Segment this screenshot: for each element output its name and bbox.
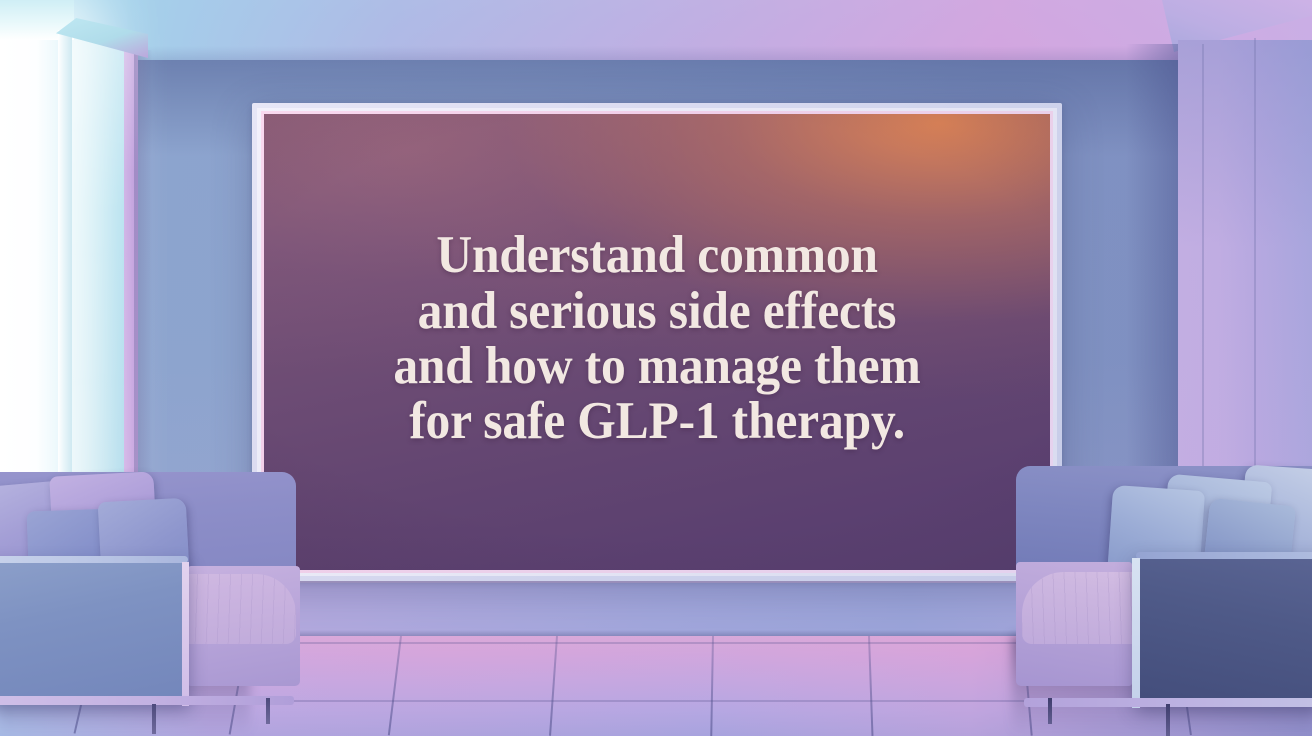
headline-line-2: and serious side effects: [418, 284, 897, 339]
right-sofa-leg: [1048, 698, 1052, 724]
left-sofa-base: [0, 696, 294, 705]
left-sofa-arm: [0, 558, 186, 704]
left-sofa-leg: [152, 704, 156, 734]
left-sofa-leg: [266, 698, 270, 724]
headline-line-4: for safe GLP-1 therapy.: [409, 394, 905, 449]
poster-artwork[interactable]: Understand common and serious side effec…: [264, 114, 1050, 570]
right-sofa-leg: [1166, 704, 1170, 736]
left-sofa[interactable]: [0, 462, 326, 722]
interior-scene: Understand common and serious side effec…: [0, 0, 1312, 736]
right-sofa-frame-edge: [1132, 558, 1140, 708]
left-sofa-frame-edge: [182, 562, 189, 706]
left-sofa-arm-top: [0, 556, 188, 563]
headline-line-1: Understand common: [436, 228, 877, 283]
right-sofa-arm-top: [1136, 552, 1312, 559]
poster-headline: Understand common and serious side effec…: [264, 114, 1050, 570]
right-sofa-arm: [1138, 554, 1312, 706]
headline-line-3: and how to manage them: [393, 339, 920, 394]
right-sofa[interactable]: [992, 458, 1312, 724]
